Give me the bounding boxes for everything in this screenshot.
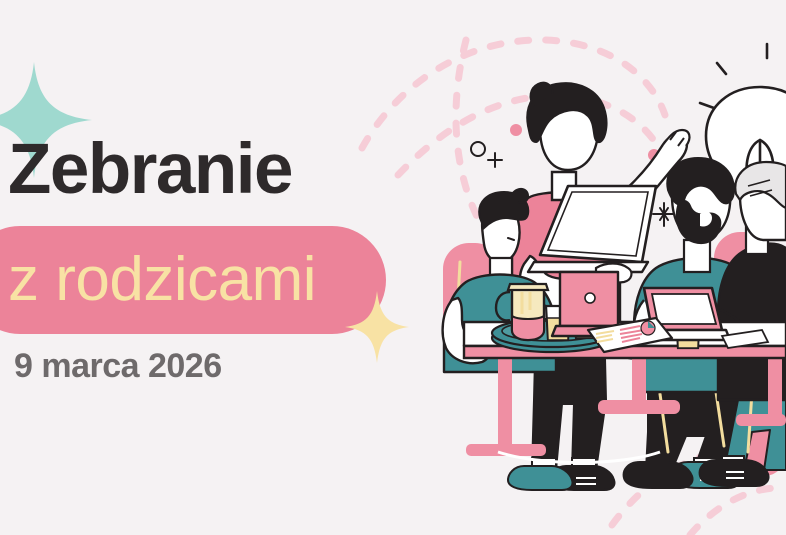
four-point-star-icon xyxy=(344,290,410,364)
cross-sparkle-icon xyxy=(488,153,502,167)
dot-pink xyxy=(510,124,522,136)
page-title: Zebranie xyxy=(8,131,292,209)
headline-block: Zebranie z rodzicami 9 marca 2026 xyxy=(0,0,420,535)
page-subtitle: z rodzicami xyxy=(8,246,316,314)
circle-outline xyxy=(471,142,485,156)
event-date: 9 marca 2026 xyxy=(14,345,222,387)
poster-canvas: Zebranie z rodzicami 9 marca 2026 xyxy=(0,0,786,535)
